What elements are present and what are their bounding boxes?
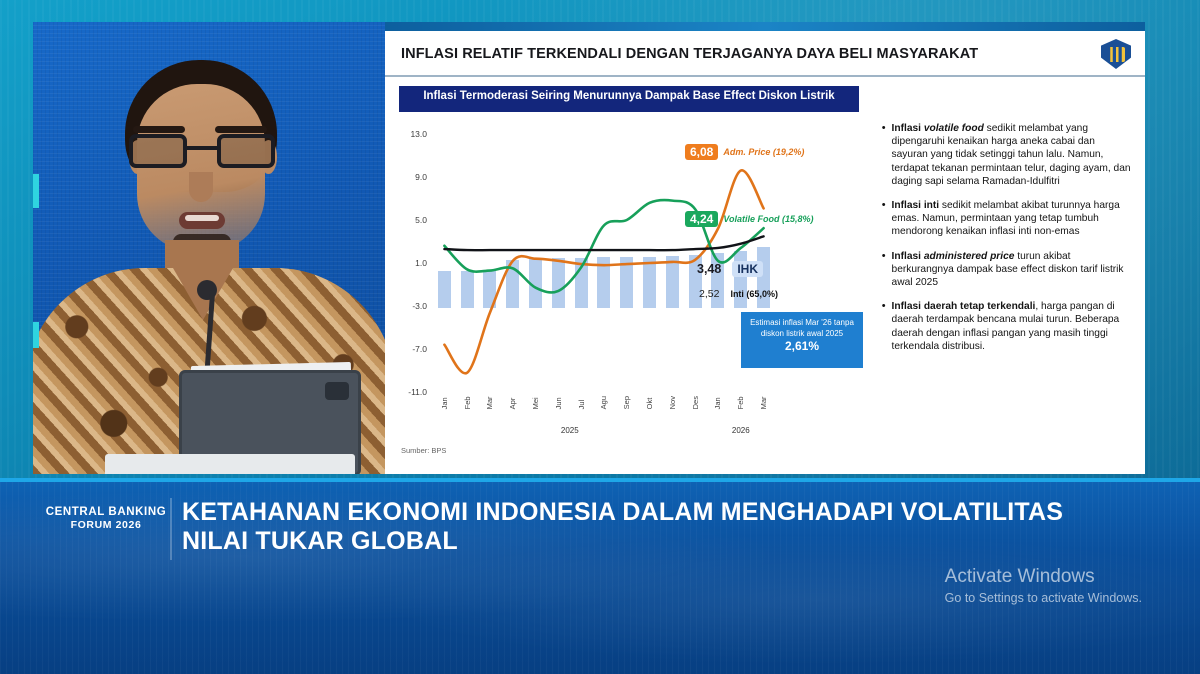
watermark-line1: Activate Windows xyxy=(945,566,1142,588)
glasses-lens-left xyxy=(129,134,187,168)
kemenkeu-logo-icon xyxy=(1101,39,1131,69)
callout-ihk-label: IHK xyxy=(732,261,763,277)
lower-third-banner: CENTRAL BANKING FORUM 2026 KETAHANAN EKO… xyxy=(0,478,1200,674)
callout-ihk-value: 3,48 xyxy=(697,262,721,276)
x-axis-tick: Feb xyxy=(463,396,472,409)
x-axis-tick: Mar xyxy=(485,396,494,409)
bullet-item: •Inflasi administered price turun akibat… xyxy=(882,250,1133,290)
bullet-dot-icon: • xyxy=(882,122,886,188)
tile-accent-upper xyxy=(33,174,39,208)
bullet-dot-icon: • xyxy=(882,199,886,239)
speaker-video-tile xyxy=(33,22,385,474)
lower-third-divider xyxy=(170,498,172,560)
x-axis-year-label: 2025 xyxy=(561,426,579,435)
x-axis-tick: Agu xyxy=(599,396,608,409)
callout-adm-price-value: 6,08 xyxy=(685,144,718,160)
callout-inti-label: Inti (65,0%) xyxy=(730,289,778,299)
speaker-eyebrow-right xyxy=(215,126,267,133)
bullet-lead-emphasis: volatile food xyxy=(924,123,984,134)
event-logo-line1: CENTRAL BANKING xyxy=(32,506,180,518)
bullet-text: Inflasi daerah tetap terkendali, harga p… xyxy=(892,300,1133,353)
series-line-ihk xyxy=(444,236,763,250)
event-logo: CENTRAL BANKING FORUM 2026 xyxy=(32,506,180,531)
callout-volatile-food-label: Volatile Food (15,8%) xyxy=(723,214,813,224)
y-axis-tick: 9.0 xyxy=(415,172,427,182)
tablet-camera-icon xyxy=(325,382,349,400)
callout-ihk: 3,48 IHK xyxy=(697,261,763,277)
callout-inti-value: 2,52 xyxy=(699,288,719,300)
event-logo-line2: FORUM 2026 xyxy=(32,519,180,531)
slide-body: 13.09.05.01.0-3.0-7.0-11.0 JanFebMarAprM… xyxy=(385,112,1145,464)
y-axis-tick: 5.0 xyxy=(415,215,427,225)
bullet-text: Inflasi inti sedikit melambat akibat tur… xyxy=(892,199,1133,239)
callout-adm-price-label: Adm. Price (19,2%) xyxy=(723,147,804,157)
x-axis-tick: Mei xyxy=(531,396,540,409)
presentation-slide: INFLASI RELATIF TERKENDALI DENGAN TERJAG… xyxy=(385,22,1145,474)
callout-volatile-food: 4,24 Volatile Food (15,8%) xyxy=(685,211,814,227)
speaker-mouth xyxy=(179,212,225,229)
bullet-text: Inflasi volatile food sedikit melambat y… xyxy=(892,122,1133,188)
estimate-callout-box: Estimasi inflasi Mar '26 tanpa diskon li… xyxy=(741,312,863,368)
bullet-item: •Inflasi inti sedikit melambat akibat tu… xyxy=(882,199,1133,239)
windows-activation-watermark: Activate Windows Go to Settings to activ… xyxy=(945,566,1142,605)
y-axis-tick: 13.0 xyxy=(410,129,427,139)
y-axis-tick: 1.0 xyxy=(415,258,427,268)
bullet-dot-icon: • xyxy=(882,250,886,290)
lower-third-accent-line xyxy=(0,478,1200,482)
callout-inti: 2,52 Inti (65,0%) xyxy=(699,288,778,300)
y-axis-tick: -7.0 xyxy=(412,344,427,354)
callout-adm-price: 6,08 Adm. Price (19,2%) xyxy=(685,144,804,160)
speaker-eyebrow-left xyxy=(133,126,185,133)
chart-subtitle-banner: Inflasi Termoderasi Seiring Menurunnya D… xyxy=(399,86,859,112)
x-axis-tick: Jan xyxy=(713,396,722,409)
slide-top-bar xyxy=(385,22,1145,31)
speaker-nose xyxy=(189,172,213,202)
bullet-lead: Inflasi daerah tetap terkendali xyxy=(892,301,1036,312)
callout-volatile-food-value: 4,24 xyxy=(685,211,718,227)
bullet-item: •Inflasi volatile food sedikit melambat … xyxy=(882,122,1133,188)
y-axis-tick: -3.0 xyxy=(412,301,427,311)
x-axis-tick: Jul xyxy=(577,396,586,409)
x-axis-tick: Apr xyxy=(508,396,517,409)
bullet-lead: Inflasi xyxy=(892,251,924,262)
broadcast-frame: INFLASI RELATIF TERKENDALI DENGAN TERJAG… xyxy=(0,0,1200,674)
podium xyxy=(105,454,355,474)
bullet-lead: Inflasi inti xyxy=(892,200,940,211)
slide-title: INFLASI RELATIF TERKENDALI DENGAN TERJAG… xyxy=(401,46,978,62)
speaker-figure xyxy=(33,22,385,474)
bullet-list: •Inflasi volatile food sedikit melambat … xyxy=(874,116,1135,464)
watermark-line2: Go to Settings to activate Windows. xyxy=(945,591,1142,605)
y-axis-tick: -11.0 xyxy=(408,387,427,397)
x-axis-ticks: JanFebMarAprMeiJunJulAguSepOktNovDesJanF… xyxy=(433,396,775,409)
estimate-callout-value: 2,61% xyxy=(745,341,859,352)
x-axis-tick: Mar xyxy=(759,396,768,409)
estimate-callout-text: Estimasi inflasi Mar '26 tanpa diskon li… xyxy=(745,317,859,339)
lower-third-title: KETAHANAN EKONOMI INDONESIA DALAM MENGHA… xyxy=(182,498,1082,556)
x-axis-tick: Des xyxy=(691,396,700,409)
x-axis-tick: Nov xyxy=(668,396,677,409)
slide-header: INFLASI RELATIF TERKENDALI DENGAN TERJAG… xyxy=(385,31,1145,77)
x-axis-tick: Feb xyxy=(736,396,745,409)
chart-subtitle-text: Inflasi Termoderasi Seiring Menurunnya D… xyxy=(423,90,834,102)
chart-container: 13.09.05.01.0-3.0-7.0-11.0 JanFebMarAprM… xyxy=(397,116,874,464)
tile-accent-lower xyxy=(33,322,39,348)
glasses-bridge xyxy=(187,146,217,150)
bullet-lead-emphasis: administered price xyxy=(924,251,1015,262)
bullet-text: Inflasi administered price turun akibat … xyxy=(892,250,1133,290)
x-axis-tick: Okt xyxy=(645,396,654,409)
x-axis-tick: Jan xyxy=(440,396,449,409)
bullet-dot-icon: • xyxy=(882,300,886,353)
bullet-lead: Inflasi xyxy=(892,123,924,134)
glasses-lens-right xyxy=(217,134,275,168)
x-axis-tick: Sep xyxy=(622,396,631,409)
x-axis-year-label: 2026 xyxy=(732,426,750,435)
bullet-item: •Inflasi daerah tetap terkendali, harga … xyxy=(882,300,1133,353)
source-note: Sumber: BPS xyxy=(401,446,446,455)
x-axis-tick: Jun xyxy=(554,396,563,409)
speaker-glasses xyxy=(129,134,275,168)
